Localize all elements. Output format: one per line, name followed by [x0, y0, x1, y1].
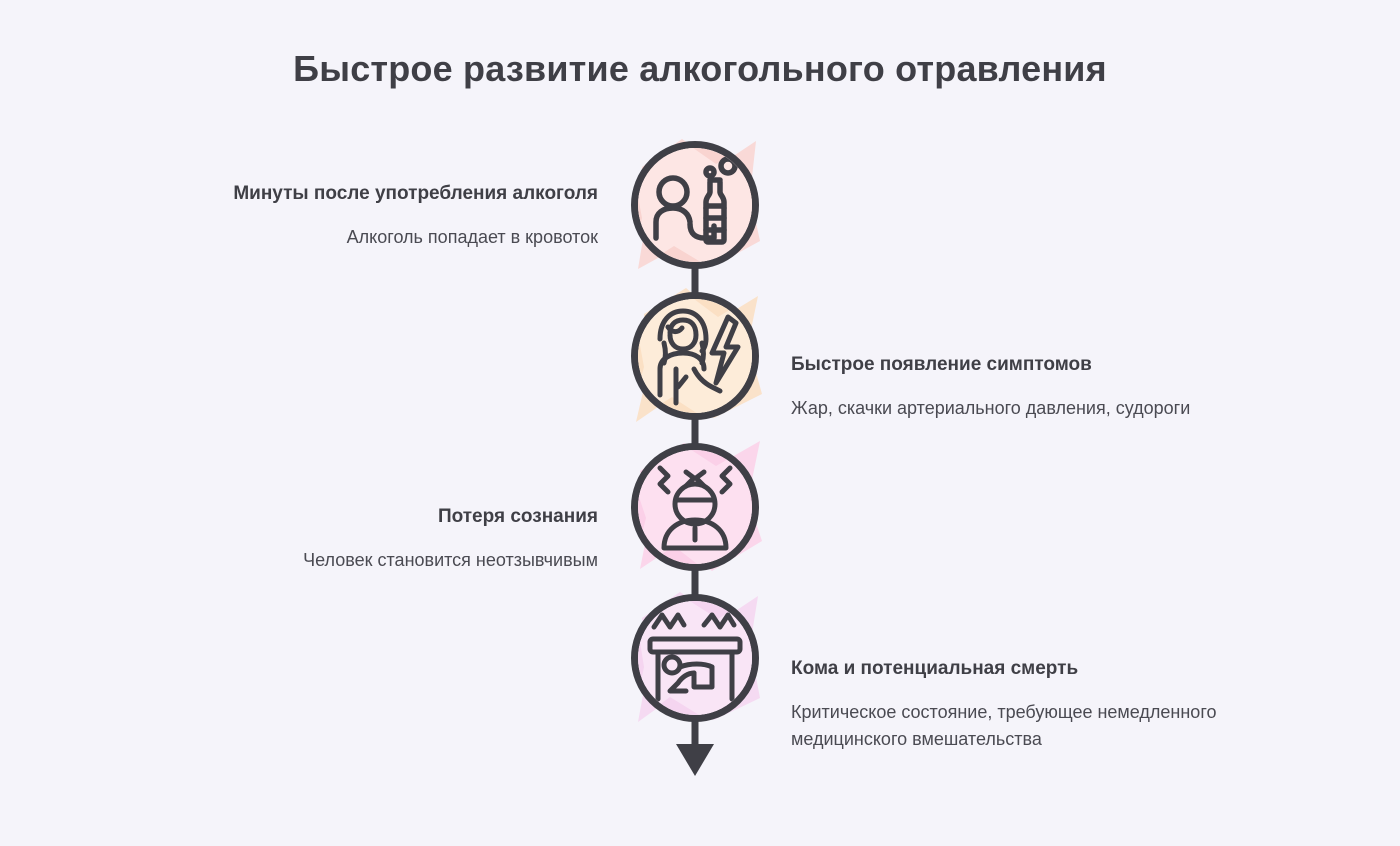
step-4-description: Критическое состояние, требующее немедле… — [791, 699, 1241, 754]
step-3-heading: Потеря сознания — [178, 503, 598, 531]
person-lying-on-bed-icon — [638, 601, 752, 715]
page-title: Быстрое развитие алкогольного отравления — [0, 48, 1400, 90]
arrow-down-icon — [676, 744, 714, 776]
step-2-text-block: Быстрое появление симптомов Жар, скачки … — [791, 351, 1241, 422]
timeline-node-4[interactable] — [631, 594, 759, 722]
step-2-description: Жар, скачки артериального давления, судо… — [791, 395, 1241, 422]
step-1-heading: Минуты после употребления алкоголя — [178, 180, 598, 208]
person-with-bottle-icon — [638, 148, 752, 262]
timeline-node-2[interactable] — [631, 292, 759, 420]
step-3-text-block: Потеря сознания Человек становится неотз… — [178, 503, 598, 574]
timeline-node-1[interactable] — [631, 141, 759, 269]
step-4-heading: Кома и потенциальная смерть — [791, 655, 1241, 683]
step-3-description: Человек становится неотзывчивым — [178, 547, 598, 574]
timeline-node-3[interactable] — [631, 443, 759, 571]
step-2-heading: Быстрое появление симптомов — [791, 351, 1241, 379]
person-with-lightning-bolt-icon — [638, 299, 752, 413]
step-1-description: Алкоголь попадает в кровоток — [178, 224, 598, 251]
step-1-text-block: Минуты после употребления алкоголя Алког… — [178, 180, 598, 251]
dizzy-head-icon — [638, 450, 752, 564]
step-4-text-block: Кома и потенциальная смерть Критическое … — [791, 655, 1241, 753]
